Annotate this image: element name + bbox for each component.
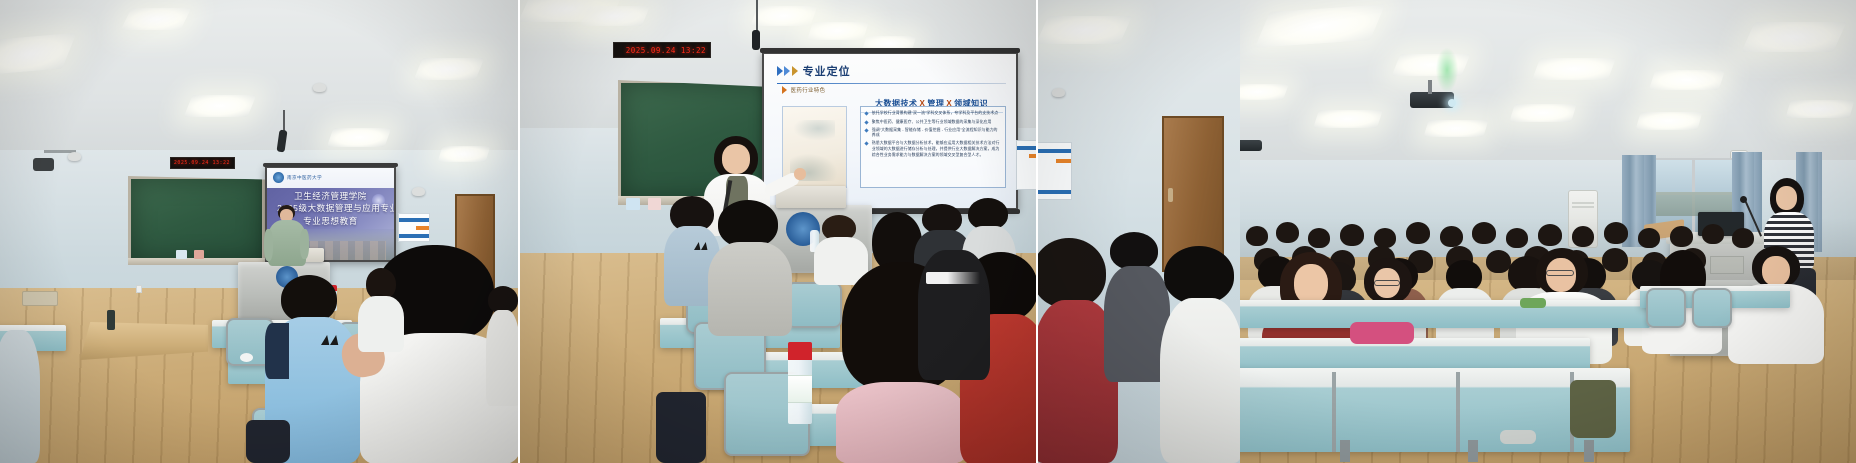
ceiling-light xyxy=(1392,54,1471,76)
audience-head xyxy=(1572,226,1594,247)
audience-head xyxy=(1506,228,1528,248)
led-clock-display: 2025.09.24 13:22 xyxy=(613,42,711,58)
student-left-edge xyxy=(0,330,40,463)
student-shoulder-dark xyxy=(265,323,289,379)
slide-bullet-box: 依托学校行业背景构建“双一流”学科交叉体系，夸学科及平台的支技术点聚焦中医药、健… xyxy=(860,106,1006,188)
green-light-spot xyxy=(1436,48,1458,92)
audience-head xyxy=(1276,222,1299,243)
student xyxy=(708,200,792,336)
poster-bar-blue xyxy=(1038,190,1071,194)
audience-head xyxy=(1732,228,1754,248)
ceiling-light xyxy=(121,8,192,30)
student-hair xyxy=(281,275,337,323)
chalk-box xyxy=(626,198,640,210)
audience-head xyxy=(1538,224,1562,246)
audience-head xyxy=(1440,226,1463,247)
ceiling-light xyxy=(414,58,485,80)
ceiling-light xyxy=(580,6,650,26)
wall-switch xyxy=(136,285,142,293)
audience-head xyxy=(1406,222,1430,244)
ceiling xyxy=(0,0,518,165)
ceiling-light xyxy=(1240,84,1289,100)
desk-leg xyxy=(1468,440,1478,462)
wall-poster xyxy=(1016,140,1038,190)
hanging-cable xyxy=(283,110,285,132)
photo-panel-2: 2025.09.24 13:22 专业定位 医药行业特色 大数据技术X管理X领域… xyxy=(518,0,1038,463)
desk-divider xyxy=(1332,372,1336,452)
dome-camera-icon xyxy=(68,152,81,161)
power-outlet xyxy=(22,291,58,306)
poster-bar-blue xyxy=(1038,149,1071,153)
presentation-slide: 专业定位 医药行业特色 大数据技术X管理X领域知识 依托学校行业背景构建“双一流… xyxy=(764,54,1016,208)
student-torso xyxy=(918,250,990,380)
ceiling-light xyxy=(807,22,869,40)
bottle-cap xyxy=(788,342,812,360)
slide-bullet: 聚焦中医药、健康医疗、公共卫生等行业领域数据的采集与深化应用 xyxy=(865,119,1001,125)
university-seal-icon xyxy=(273,172,284,183)
backpack xyxy=(246,420,290,463)
audience-head xyxy=(1340,224,1364,246)
speaker-face xyxy=(1776,186,1797,210)
student-right-edge xyxy=(486,286,518,406)
presenter-arm-left xyxy=(264,229,273,261)
wall-camera xyxy=(33,158,54,171)
audience-head xyxy=(1308,228,1330,248)
ceiling-light xyxy=(1532,58,1616,80)
chalk-box xyxy=(176,250,187,259)
audience-head xyxy=(1472,222,1496,244)
ceiling-light xyxy=(327,128,392,147)
chevron-right-icon xyxy=(782,86,787,94)
presenter-arm-right xyxy=(300,229,309,259)
ceiling-light xyxy=(1509,104,1577,122)
chair xyxy=(786,282,842,328)
chair xyxy=(1646,288,1686,328)
student-hair xyxy=(1164,246,1234,304)
projector-lens-icon xyxy=(1448,99,1456,107)
green-item xyxy=(1520,298,1546,308)
presenter xyxy=(262,205,310,267)
hanging-mic xyxy=(752,30,760,50)
panel-seam xyxy=(1036,0,1038,463)
eraser xyxy=(194,250,204,259)
glasses-icon xyxy=(1546,270,1574,276)
dome-camera-icon xyxy=(1052,88,1065,97)
student-hair xyxy=(718,200,778,248)
poster-bar-blue xyxy=(399,234,429,238)
backpack xyxy=(656,392,706,463)
microphone-head-icon xyxy=(1740,196,1747,203)
desk-leg xyxy=(1340,440,1350,462)
chevron-right-icon xyxy=(777,66,798,76)
slide-header-text: 专业定位 xyxy=(803,63,851,79)
desk-divider xyxy=(1456,372,1460,452)
student-torso xyxy=(836,382,966,463)
slide-subheader: 医药行业特色 xyxy=(782,86,826,94)
student-hair xyxy=(1038,238,1106,308)
desk-leg xyxy=(1584,440,1594,462)
audience-head xyxy=(1702,224,1724,244)
shirt-print-text xyxy=(926,272,980,284)
student-torso xyxy=(1160,298,1244,463)
student-torso xyxy=(486,310,518,406)
ceiling-light xyxy=(1038,16,1132,44)
water-bottle xyxy=(788,342,812,424)
glasses-icon xyxy=(1374,280,1400,286)
slide-bullet: 依托学校行业背景构建“双一流”学科交叉体系，夸学科及平台的支技术点 xyxy=(865,110,1001,116)
slide-subheader-text: 医药行业特色 xyxy=(791,86,826,94)
ceiling-light xyxy=(1313,110,1383,128)
dome-camera-icon xyxy=(313,83,326,92)
ceiling-projector xyxy=(1240,140,1262,151)
bottle-label xyxy=(788,375,812,403)
lecturer-hand xyxy=(794,168,806,180)
screen-frame-top xyxy=(263,163,398,167)
poster-bar-blue xyxy=(399,218,429,222)
ceiling-light xyxy=(1423,120,1488,137)
poster-bar-blue xyxy=(1017,146,1037,150)
university-logo: 南京中医药大学 xyxy=(273,172,322,183)
student-desk-row xyxy=(1240,300,1650,328)
photo-panel-3 xyxy=(1038,0,1856,463)
student-face xyxy=(1294,264,1328,304)
student-black-tee xyxy=(918,250,990,380)
student-face xyxy=(1762,256,1790,286)
student-torso xyxy=(358,296,404,352)
slide-bullet-list: 依托学校行业背景构建“双一流”学科交叉体系，夸学科及平台的支技术点聚焦中医药、健… xyxy=(865,110,1001,157)
student xyxy=(1160,246,1242,463)
lecturer-face xyxy=(722,144,750,174)
audience-head xyxy=(1246,226,1268,246)
ceiling-light xyxy=(750,6,817,26)
poster-bar-orange xyxy=(416,226,430,230)
chair xyxy=(1692,288,1732,328)
tissue-box xyxy=(648,198,661,210)
screen-frame-top xyxy=(760,48,1020,53)
ceiling-light xyxy=(1649,70,1725,90)
slide-title-line-1: 卫生经济管理学院 xyxy=(277,190,384,202)
pink-bag xyxy=(1350,322,1414,344)
ceiling-light xyxy=(438,146,491,162)
shoes xyxy=(1500,430,1536,444)
audience-head xyxy=(1670,226,1693,247)
ceiling-light xyxy=(1635,112,1702,130)
backpack-on-floor xyxy=(1570,380,1616,438)
wall-poster xyxy=(398,213,430,242)
led-clock-text: 2025.09.24 13:22 xyxy=(626,46,706,55)
slide-bullet: 强调“大数据采集 - 智能存储 - 价值挖掘 - 行业应用”全流程知识与能力的养… xyxy=(865,127,1001,138)
ceiling-light xyxy=(1741,22,1846,52)
wall-poster xyxy=(1038,142,1072,200)
ceiling-light xyxy=(184,95,257,117)
university-name: 南京中医药大学 xyxy=(287,175,322,181)
student-seated-ponytail xyxy=(358,268,404,352)
poster-bar-orange xyxy=(1056,159,1071,163)
door-handle-icon xyxy=(1168,188,1173,202)
panel-seam xyxy=(518,0,520,463)
audience-head xyxy=(1374,228,1396,248)
main-room xyxy=(1240,0,1856,463)
dome-camera-icon xyxy=(412,187,425,196)
audience-head xyxy=(1604,222,1628,244)
hanging-cable xyxy=(756,0,758,34)
student-torso xyxy=(0,330,40,463)
ceiling-projector xyxy=(1410,92,1454,108)
cup xyxy=(240,353,253,362)
ceiling-light xyxy=(1785,100,1854,118)
led-clock-display: 2025.09.24 13:22 xyxy=(170,157,235,169)
led-clock-text: 2025.09.24 13:22 xyxy=(174,160,230,166)
slide-divider xyxy=(777,83,1006,84)
student-torso xyxy=(708,242,792,336)
photo-panel-1: 2025.09.24 13:22 南京中医药大学 卫生经济管理学院 2025级大… xyxy=(0,0,518,463)
audience-head xyxy=(1638,228,1660,248)
thermos-bottle xyxy=(107,310,115,330)
slide-header: 专业定位 xyxy=(777,63,851,79)
student-hair xyxy=(1110,232,1158,270)
photo-collage: 2025.09.24 13:22 南京中医药大学 卫生经济管理学院 2025级大… xyxy=(0,0,1856,463)
projector-mount xyxy=(1428,80,1432,94)
slide-bullet: 熟悉大数据平台与大数据分析技术，能够应运用大数据相关技术方法对行业领域的大数据进… xyxy=(865,140,1001,157)
